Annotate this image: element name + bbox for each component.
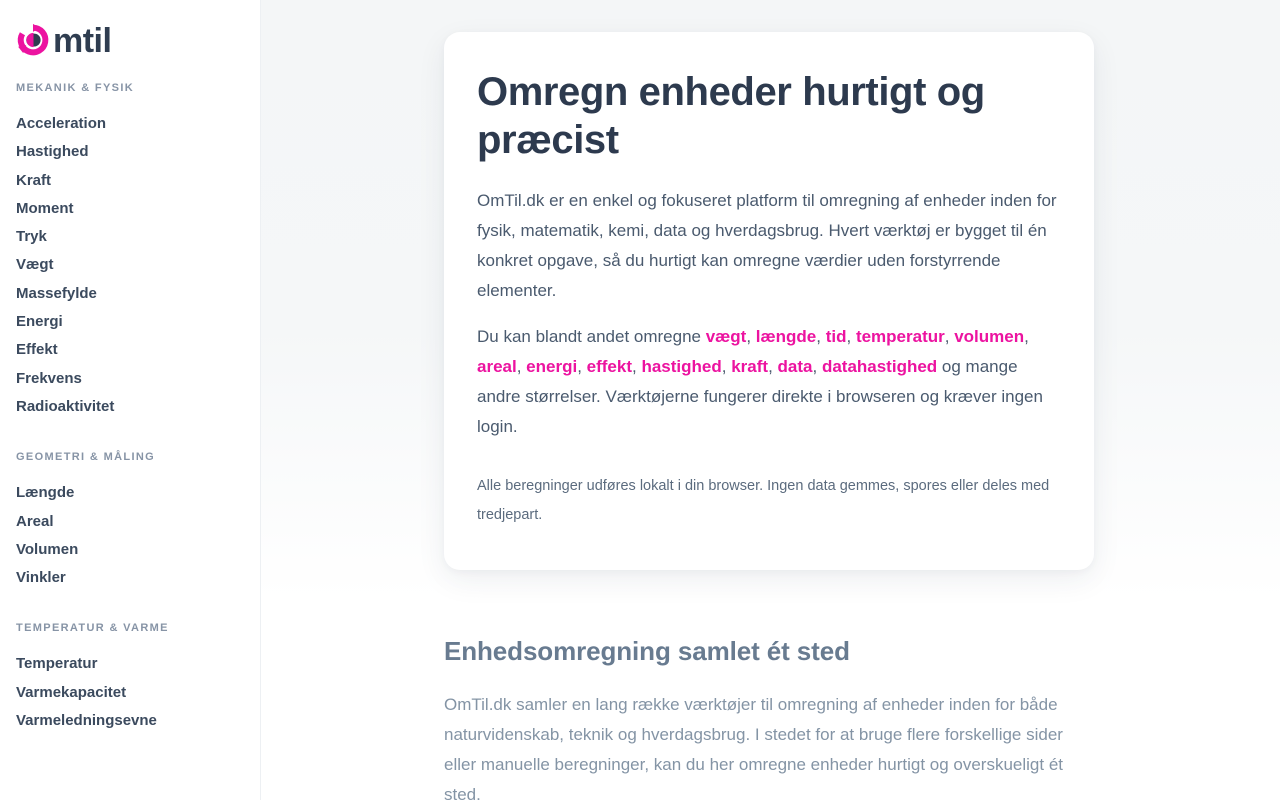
- link-volumen[interactable]: volumen: [954, 327, 1024, 346]
- intro-section: Enhedsomregning samlet ét sted OmTil.dk …: [444, 634, 1094, 800]
- nav-section-geometri-maaling: GEOMETRI & MÅLING Længde Areal Volumen V…: [0, 451, 260, 592]
- link-data[interactable]: data: [778, 357, 813, 376]
- circular-arrow-icon: [16, 23, 50, 57]
- link-hastighed[interactable]: hastighed: [641, 357, 721, 376]
- link-vaegt[interactable]: vægt: [706, 327, 747, 346]
- brand-wordmark: mtil: [53, 24, 111, 58]
- sidebar-item-radioaktivitet[interactable]: Radioaktivitet: [0, 393, 260, 421]
- link-kraft[interactable]: kraft: [731, 357, 768, 376]
- sidebar-item-kraft[interactable]: Kraft: [0, 167, 260, 195]
- brand-logo[interactable]: mtil: [0, 0, 260, 60]
- hero-paragraph-2-prefix: Du kan blandt andet omregne: [477, 327, 706, 346]
- sidebar-item-tryk[interactable]: Tryk: [0, 223, 260, 251]
- sidebar-item-volumen[interactable]: Volumen: [0, 536, 260, 564]
- sidebar-item-vaegt[interactable]: Vægt: [0, 251, 260, 279]
- sidebar-nav: MEKANIK & FYSIK Acceleration Hastighed K…: [0, 60, 260, 735]
- section-paragraph: OmTil.dk samler en lang række værktøjer …: [444, 690, 1094, 800]
- link-energi[interactable]: energi: [526, 357, 577, 376]
- sidebar-item-acceleration[interactable]: Acceleration: [0, 110, 260, 138]
- link-effekt[interactable]: effekt: [587, 357, 632, 376]
- sidebar-item-hastighed[interactable]: Hastighed: [0, 138, 260, 166]
- sidebar-item-varmekapacitet[interactable]: Varmekapacitet: [0, 679, 260, 707]
- link-tid[interactable]: tid: [826, 327, 847, 346]
- app-root: mtil MEKANIK & FYSIK Acceleration Hastig…: [0, 0, 1280, 800]
- nav-section-mekanik-fysik: MEKANIK & FYSIK Acceleration Hastighed K…: [0, 82, 260, 421]
- sidebar: mtil MEKANIK & FYSIK Acceleration Hastig…: [0, 0, 261, 800]
- privacy-note: Alle beregninger udføres lokalt i din br…: [477, 472, 1061, 530]
- link-datahastighed[interactable]: datahastighed: [822, 357, 937, 376]
- sidebar-item-effekt[interactable]: Effekt: [0, 336, 260, 364]
- link-areal[interactable]: areal: [477, 357, 517, 376]
- nav-section-title: GEOMETRI & MÅLING: [0, 451, 260, 463]
- hero-paragraph-2: Du kan blandt andet omregne vægt, længde…: [477, 322, 1061, 442]
- sidebar-item-areal[interactable]: Areal: [0, 508, 260, 536]
- sidebar-item-laengde[interactable]: Længde: [0, 479, 260, 507]
- hero-card: Omregn enheder hurtigt og præcist OmTil.…: [444, 32, 1094, 570]
- main-content: Omregn enheder hurtigt og præcist OmTil.…: [261, 0, 1280, 800]
- page-title: Omregn enheder hurtigt og præcist: [477, 68, 1061, 164]
- nav-section-temperatur-varme: TEMPERATUR & VARME Temperatur Varmekapac…: [0, 622, 260, 735]
- sidebar-item-varmeledningsevne[interactable]: Varmeledningsevne: [0, 707, 260, 735]
- hero-paragraph-1: OmTil.dk er en enkel og fokuseret platfo…: [477, 186, 1061, 306]
- link-temperatur[interactable]: temperatur: [856, 327, 945, 346]
- link-laengde[interactable]: længde: [756, 327, 816, 346]
- sidebar-item-vinkler[interactable]: Vinkler: [0, 564, 260, 592]
- sidebar-item-energi[interactable]: Energi: [0, 308, 260, 336]
- section-heading: Enhedsomregning samlet ét sted: [444, 634, 1094, 668]
- content-column: Omregn enheder hurtigt og præcist OmTil.…: [261, 0, 1280, 800]
- nav-section-title: MEKANIK & FYSIK: [0, 82, 260, 94]
- nav-section-title: TEMPERATUR & VARME: [0, 622, 260, 634]
- sidebar-item-frekvens[interactable]: Frekvens: [0, 365, 260, 393]
- sidebar-item-temperatur[interactable]: Temperatur: [0, 650, 260, 678]
- sidebar-item-moment[interactable]: Moment: [0, 195, 260, 223]
- sidebar-item-massefylde[interactable]: Massefylde: [0, 280, 260, 308]
